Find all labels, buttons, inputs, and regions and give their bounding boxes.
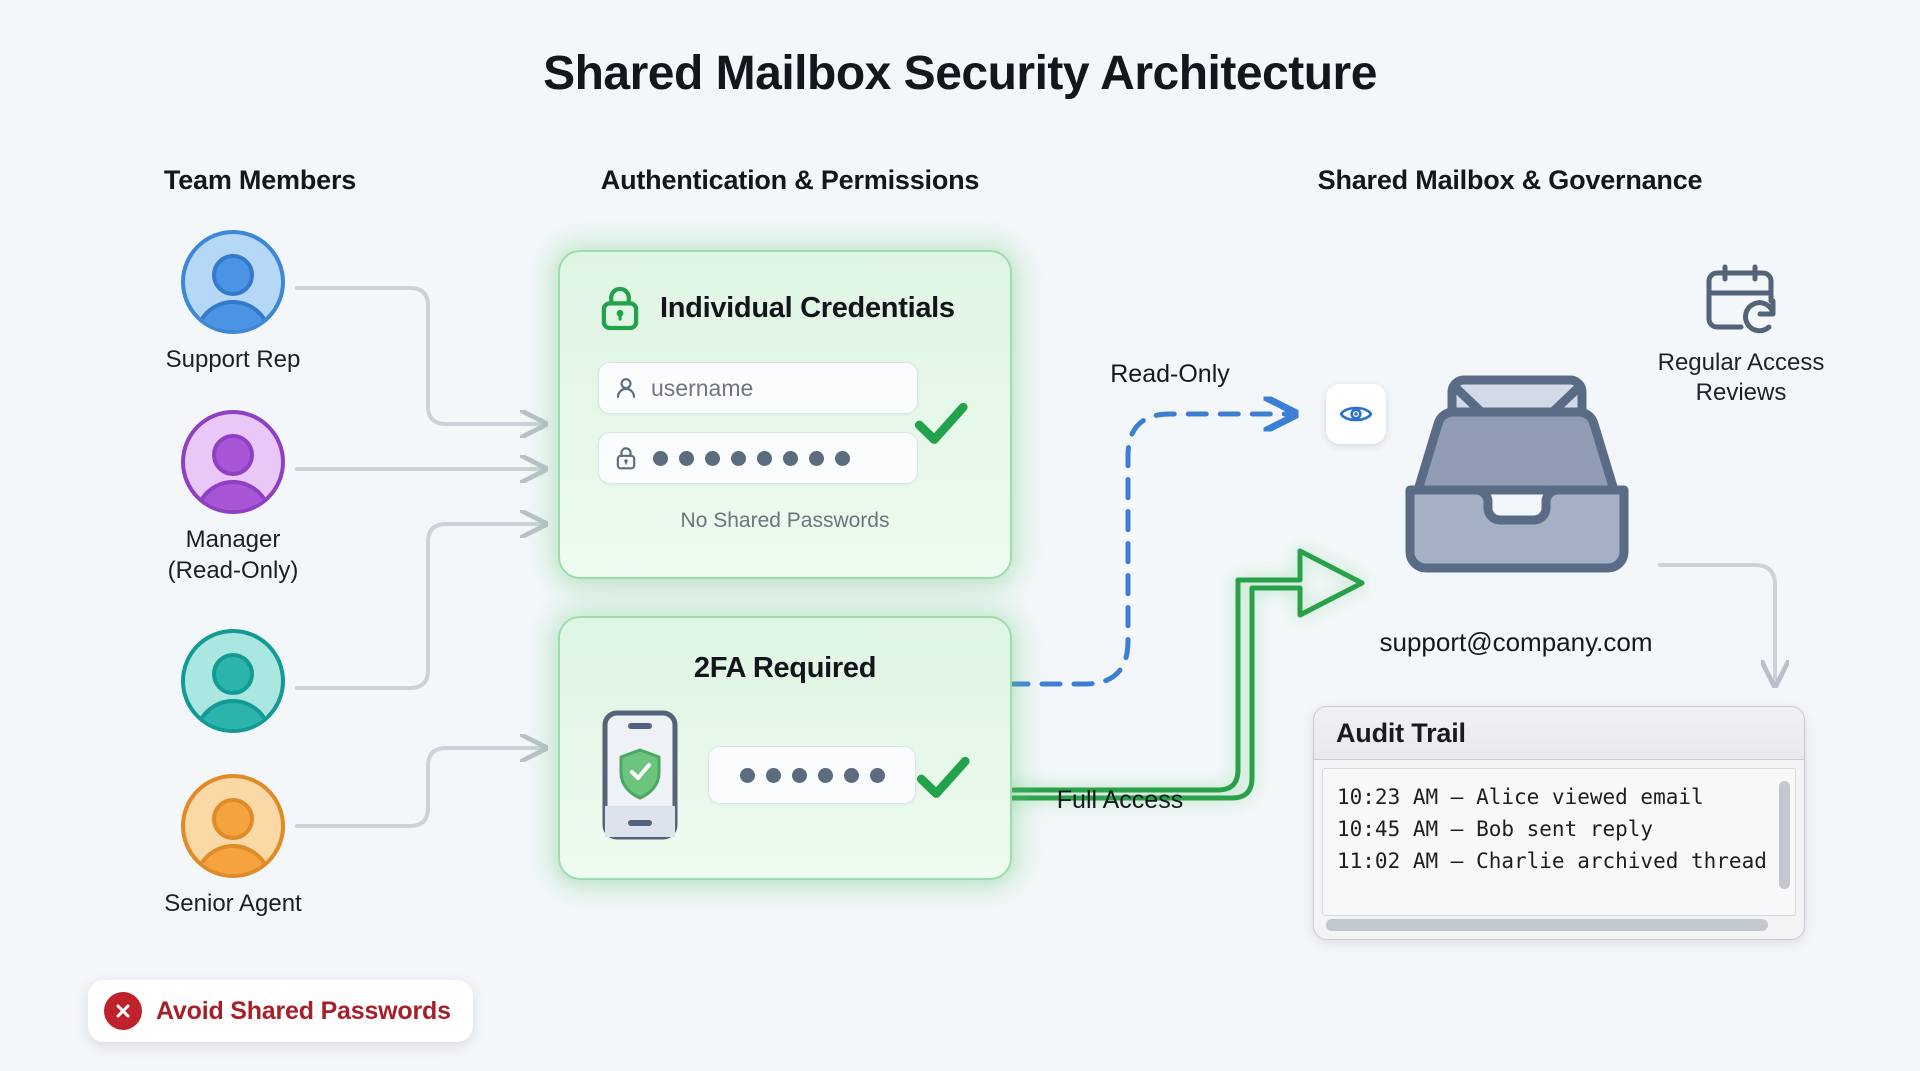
otp-masked-dots — [740, 768, 885, 783]
avoid-shared-passwords-badge[interactable]: Avoid Shared Passwords — [88, 980, 473, 1042]
reviews-label-line1: Regular Access — [1611, 348, 1871, 378]
page-title: Shared Mailbox Security Architecture — [0, 46, 1920, 101]
user-avatar-icon — [181, 230, 285, 334]
reviews-label-line2: Reviews — [1611, 378, 1871, 408]
team-member-label-line1: Manager — [113, 524, 353, 555]
mask-dot — [757, 451, 772, 466]
user-avatar-icon — [181, 774, 285, 878]
audit-trail-entry: 10:45 AM – Bob sent reply — [1337, 813, 1781, 845]
connector-read-only-dashed — [1010, 414, 1295, 684]
audit-trail-list[interactable]: 10:23 AM – Alice viewed email10:45 AM – … — [1322, 768, 1796, 916]
card-title: Individual Credentials — [660, 292, 955, 325]
warning-text: Avoid Shared Passwords — [156, 997, 451, 1026]
column-heading-authentication: Authentication & Permissions — [510, 165, 1070, 196]
mask-dot — [766, 768, 781, 783]
phone-shield-icon — [602, 710, 678, 840]
otp-code-input[interactable] — [708, 746, 916, 804]
x-circle-icon — [104, 992, 142, 1030]
edge-label-full-access: Full Access — [1000, 786, 1240, 815]
individual-credentials-card[interactable]: Individual Credentials username No Share — [558, 250, 1012, 579]
audit-trail-panel[interactable]: Audit Trail 10:23 AM – Alice viewed emai… — [1313, 706, 1805, 940]
team-member-support-rep[interactable]: Support Rep — [113, 230, 353, 375]
connector-full-access-arrow — [1005, 551, 1362, 798]
mask-dot — [653, 451, 668, 466]
lock-icon — [613, 444, 639, 472]
connector-mailbox-to-audit — [1660, 565, 1775, 685]
username-input[interactable]: username — [598, 362, 918, 414]
card-title: 2FA Required — [560, 652, 1010, 685]
mask-dot — [679, 451, 694, 466]
column-heading-team-members: Team Members — [40, 165, 480, 196]
team-member-label: Support Rep — [113, 344, 353, 375]
team-member-agent[interactable] — [113, 629, 353, 743]
mask-dot — [783, 451, 798, 466]
two-factor-card[interactable]: 2FA Required — [558, 616, 1012, 880]
mask-dot — [818, 768, 833, 783]
audit-trail-title: Audit Trail — [1314, 707, 1804, 760]
audit-trail-entry: 11:02 AM – Charlie archived thread — [1337, 845, 1781, 877]
diagram-canvas: Shared Mailbox Security Architecture Tea… — [0, 0, 1920, 1071]
audit-trail-entry: 10:23 AM – Alice viewed email — [1337, 781, 1781, 813]
edge-label-read-only: Read-Only — [1060, 360, 1280, 389]
mask-dot — [740, 768, 755, 783]
team-member-manager[interactable]: Manager (Read-Only) — [113, 410, 353, 586]
password-input[interactable] — [598, 432, 918, 484]
column-heading-governance: Shared Mailbox & Governance — [1230, 165, 1790, 196]
mask-dot — [809, 451, 824, 466]
audit-horizontal-scrollbar[interactable] — [1326, 919, 1768, 931]
mask-dot — [870, 768, 885, 783]
mask-dot — [835, 451, 850, 466]
team-member-label-line2: (Read-Only) — [113, 555, 353, 586]
calendar-refresh-icon — [1701, 263, 1781, 339]
team-member-senior-agent[interactable]: Senior Agent — [113, 774, 353, 919]
mask-dot — [731, 451, 746, 466]
team-member-label: Senior Agent — [113, 888, 353, 919]
mask-dot — [844, 768, 859, 783]
check-icon — [910, 392, 972, 454]
check-icon — [912, 746, 974, 808]
lock-icon — [598, 284, 642, 332]
mask-dot — [705, 451, 720, 466]
password-masked-dots — [653, 451, 850, 466]
audit-vertical-scrollbar[interactable] — [1779, 781, 1790, 889]
user-avatar-icon — [181, 629, 285, 733]
no-shared-passwords-note: No Shared Passwords — [560, 509, 1010, 533]
mask-dot — [792, 768, 807, 783]
username-placeholder: username — [651, 375, 753, 402]
eye-icon — [1339, 401, 1373, 427]
user-avatar-icon — [181, 410, 285, 514]
person-icon — [613, 375, 639, 401]
mailbox-address-label: support@company.com — [1306, 627, 1726, 658]
